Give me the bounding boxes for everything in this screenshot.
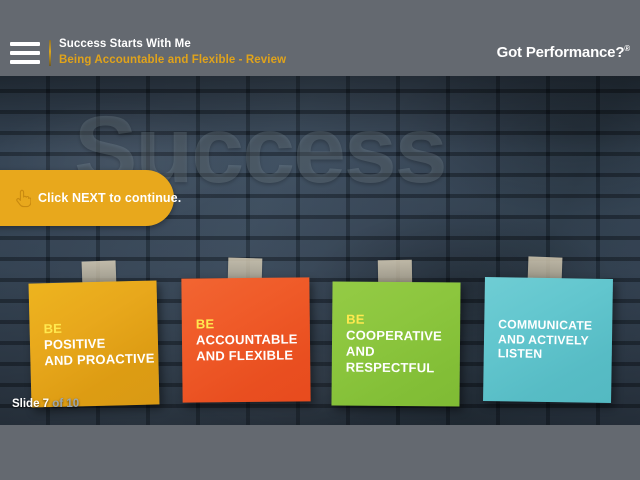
note-prefix: BE: [346, 312, 460, 329]
note-prefix: BE: [196, 316, 310, 333]
click-next-banner[interactable]: Click NEXT to continue.: [0, 170, 174, 226]
hamburger-menu-icon[interactable]: [10, 42, 40, 64]
slide-current: Slide 7: [12, 398, 49, 410]
brand-logo: Got Performance?®: [497, 44, 630, 61]
slide-counter: Slide 7 of 10: [12, 398, 79, 410]
note-text: COOPERATIVE AND RESPECTFUL: [346, 328, 460, 377]
title-block: Success Starts With Me Being Accountable…: [59, 38, 286, 67]
header-divider: [49, 40, 51, 66]
slide-total: of 10: [52, 398, 79, 410]
sticky-note-cooperative-respectful: BE COOPERATIVE AND RESPECTFUL: [331, 281, 460, 406]
sticky-note-accountable-flexible: BE ACCOUNTABLE AND FLEXIBLE: [181, 277, 310, 402]
course-title: Success Starts With Me: [59, 38, 286, 52]
hamburger-bar: [10, 42, 40, 46]
hamburger-bar: [10, 60, 40, 64]
player-header: Success Starts With Me Being Accountable…: [0, 0, 640, 76]
note-text: POSITIVE AND PROACTIVE: [44, 335, 159, 369]
pointing-hand-icon: [14, 189, 31, 208]
slide-canvas: Success Click NEXT to continue. BE POSIT…: [0, 76, 640, 425]
note-text: COMMUNICATE AND ACTIVELY LISTEN: [498, 317, 613, 363]
registered-trademark-icon: ®: [624, 44, 630, 53]
brand-text: Got Performance?: [497, 44, 625, 61]
lesson-title: Being Accountable and Flexible - Review: [59, 54, 286, 68]
hamburger-bar: [10, 51, 40, 55]
sticky-note-communicate-listen: COMMUNICATE AND ACTIVELY LISTEN: [483, 277, 613, 403]
player-footer-band: [0, 425, 640, 480]
sticky-note-positive-proactive: BE POSITIVE AND PROACTIVE: [29, 280, 160, 407]
click-next-label: Click NEXT to continue.: [38, 191, 181, 205]
presentation-player: Success Starts With Me Being Accountable…: [0, 0, 640, 480]
note-text: ACCOUNTABLE AND FLEXIBLE: [196, 331, 310, 364]
